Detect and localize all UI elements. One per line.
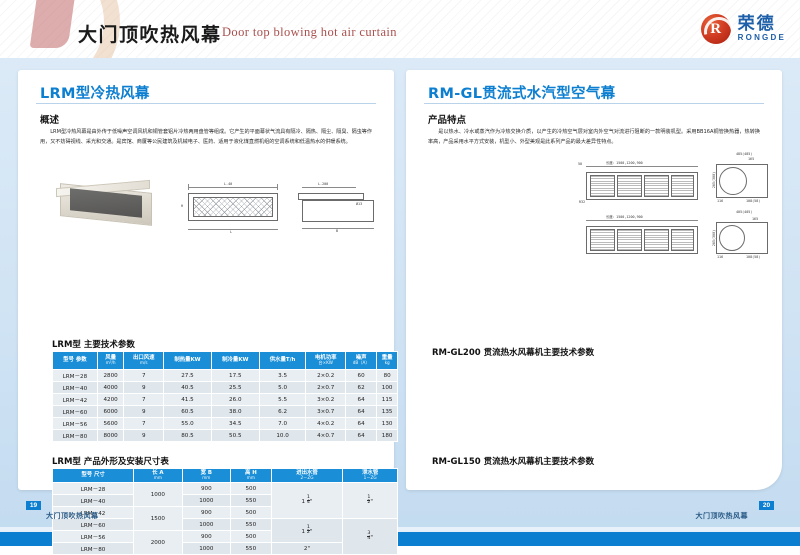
table-row: LRM－6010005501 12"34" xyxy=(53,519,398,531)
table-cell-length-group: 1000 xyxy=(134,483,182,507)
right-product-panel: RM-GL贯流式水汽型空气幕 产品特点 是以热水、冷水或蒸汽作为冷热交换介质，以… xyxy=(406,70,782,490)
column-header: 长 Amm xyxy=(134,469,182,483)
table-cell: 100 xyxy=(377,382,398,394)
table-cell: LRM－80 xyxy=(53,430,98,442)
louver-section-1 xyxy=(590,175,615,197)
gl-side-view-upper: 165 116 108(58) 265(300) xyxy=(712,156,778,208)
table-cell: 6000 xyxy=(97,406,124,418)
table-cell: 50.5 xyxy=(211,430,259,442)
table-cell-water-pipe: 2" xyxy=(271,543,343,555)
column-header-unit: kg xyxy=(377,361,397,366)
left-title-divider xyxy=(36,103,376,104)
table-cell-length-group: 1500 xyxy=(134,507,182,531)
louver-section-2 xyxy=(617,229,642,251)
column-header-label: 型号 参数 xyxy=(63,357,86,363)
table-cell: 500 xyxy=(231,531,272,543)
table-cell: 500 xyxy=(231,507,272,519)
right-page-number: 20 xyxy=(759,501,774,510)
column-header: 制冷量KW xyxy=(211,352,259,370)
column-header-label: 制热量KW xyxy=(174,357,200,363)
table-cell: 1000 xyxy=(182,495,230,507)
dim-label-side: 50 xyxy=(578,162,582,166)
table-cell: 3×0.2 xyxy=(306,394,346,406)
dim-label-h1: 265(300) xyxy=(712,172,716,188)
column-header: 供水量T/h xyxy=(259,352,306,370)
fan-circle xyxy=(719,167,747,195)
table-cell: 7 xyxy=(124,370,164,382)
lrm-dim-table-title: LRM型 产品外形及安装尺寸表 xyxy=(52,455,169,467)
left-page-number: 19 xyxy=(26,501,41,510)
logo-circle-r-icon: R xyxy=(701,14,731,44)
louver-section-4 xyxy=(671,175,694,197)
table-row: LRM－282800727.517.53.52×0.26080 xyxy=(53,370,398,382)
lrm-spec-table-title: LRM型 主要技术参数 xyxy=(52,338,135,350)
gl150-table-title: RM-GL150 贯流热水风幕机主要技术参数 xyxy=(432,455,594,467)
table-cell: 7 xyxy=(124,394,164,406)
table-cell: 115 xyxy=(377,394,398,406)
table-cell: 6.2 xyxy=(259,406,306,418)
table-cell: 64 xyxy=(345,430,376,442)
dim-line-bottom xyxy=(188,229,278,230)
table-cell: 5600 xyxy=(97,418,124,430)
dim-label-small: R32 xyxy=(579,200,585,204)
table-cell: 4×0.7 xyxy=(306,430,346,442)
fan-circle xyxy=(719,225,745,251)
table-cell-length-group: 2000 xyxy=(134,531,182,555)
table-cell: 4200 xyxy=(97,394,124,406)
dim-label-pipe: 108(58) xyxy=(746,255,760,259)
table-cell: 80 xyxy=(377,370,398,382)
table-cell: 2800 xyxy=(97,370,124,382)
dim-line-length xyxy=(586,166,698,167)
column-header: 宽 Bmm xyxy=(182,469,230,483)
table-cell: 26.0 xyxy=(211,394,259,406)
dim-label-hole: Ø13 xyxy=(356,202,362,206)
column-header: 型号 尺寸 xyxy=(53,469,134,483)
dim-label-bottom: L xyxy=(230,230,232,234)
logo-text-cn: 荣德 xyxy=(738,16,786,34)
table-cell-water-pipe: 1 14" xyxy=(271,483,343,519)
table-cell: 135 xyxy=(377,406,398,418)
table-cell: 4000 xyxy=(97,382,124,394)
gl-side-view-lower: 405(405) 165 116 108(58) 265(300) xyxy=(712,210,778,262)
table-cell: LRM－40 xyxy=(53,382,98,394)
right-footer-label: 大门顶吹热风幕 xyxy=(696,511,749,521)
dim-label-length: 长度：1500,1200,900 xyxy=(606,160,643,165)
column-header-unit: m³/h xyxy=(98,361,124,366)
dim-label-side: L-200 xyxy=(318,182,328,186)
table-cell-drain-pipe: 12" xyxy=(343,483,398,519)
table-cell: 9 xyxy=(124,430,164,442)
table-row: LRM－404000940.525.55.02×0.762100 xyxy=(53,382,398,394)
dim-label-top: L-40 xyxy=(224,182,232,186)
header-title-cn: 大门顶吹热风幕 xyxy=(78,20,222,47)
table-cell: 130 xyxy=(377,418,398,430)
table-cell: 1000 xyxy=(182,543,230,555)
louver-section-3 xyxy=(644,229,669,251)
lrm-front-view-drawing: L-40 L H xyxy=(186,182,282,234)
logo-letter: R xyxy=(710,22,721,37)
logo-text-en: RONGDE xyxy=(738,33,786,42)
table-cell: 64 xyxy=(345,406,376,418)
dim-label-width-top: 485(485) xyxy=(736,152,752,156)
column-header-unit: 2－ZG xyxy=(272,476,343,481)
table-row: LRM－808000980.550.510.04×0.764180 xyxy=(53,430,398,442)
table-cell: 27.5 xyxy=(164,370,212,382)
louver-section-2 xyxy=(617,175,642,197)
table-cell: 900 xyxy=(182,507,230,519)
dim-line-length xyxy=(586,220,698,221)
column-header-label: 型号 尺寸 xyxy=(81,472,104,478)
column-header-unit: mm xyxy=(183,476,230,481)
table-cell: 34.5 xyxy=(211,418,259,430)
column-header-unit: mm xyxy=(231,476,271,481)
column-header: 型号 参数 xyxy=(53,352,98,370)
table-cell-water-pipe: 1 12" xyxy=(271,519,343,543)
table-cell: 4×0.2 xyxy=(306,418,346,430)
left-body-text: LRM型冷热风幕是由外传于低噪声空调风机和铜管套铝片冷热两用盘管等组成。它产生的… xyxy=(40,128,372,148)
table-cell: 38.0 xyxy=(211,406,259,418)
left-panel-title: LRM型冷热风幕 xyxy=(40,82,150,103)
table-cell: 5.0 xyxy=(259,382,306,394)
louver-section-3 xyxy=(644,175,669,197)
table-cell: 10.0 xyxy=(259,430,306,442)
column-header-label: 供水量T/h xyxy=(270,357,296,363)
table-cell: LRM－60 xyxy=(53,406,98,418)
table-cell: 64 xyxy=(345,418,376,430)
column-header-unit: mm xyxy=(134,476,181,481)
column-header: 出口风速m/s xyxy=(124,352,164,370)
table-cell: 550 xyxy=(231,543,272,555)
table-cell: LRM－28 xyxy=(53,483,134,495)
table-cell: LRM－80 xyxy=(53,543,134,555)
dim-label-base: 116 xyxy=(717,199,723,203)
lrm-side-view-drawing: L-200 Ø13 B xyxy=(296,182,380,234)
dim-tick-left xyxy=(188,184,189,190)
left-product-panel: LRM型冷热风幕 概述 LRM型冷热风幕是由外传于低噪声空调风机和铜管套铝片冷热… xyxy=(18,70,394,490)
gl200-table-title: RM-GL200 贯流热水风幕机主要技术参数 xyxy=(432,346,594,358)
table-cell: 3.5 xyxy=(259,370,306,382)
table-row: LRM－424200741.526.05.53×0.264115 xyxy=(53,394,398,406)
mesh-grille xyxy=(193,197,273,217)
table-cell: 55.0 xyxy=(164,418,212,430)
table-cell: 550 xyxy=(231,519,272,531)
table-cell: 550 xyxy=(231,495,272,507)
table-row: LRM－606000960.538.06.23×0.764135 xyxy=(53,406,398,418)
table-cell: 60 xyxy=(345,370,376,382)
column-header: 制热量KW xyxy=(164,352,212,370)
table-cell: 25.5 xyxy=(211,382,259,394)
table-header-row: 型号 尺寸长 Amm宽 Bmm高 Hmm进出水管2－ZG泄水管1－ZG xyxy=(53,469,398,483)
table-cell: 62 xyxy=(345,382,376,394)
louver-section-4 xyxy=(671,229,694,251)
table-cell: 500 xyxy=(231,483,272,495)
column-header: 高 Hmm xyxy=(231,469,272,483)
right-body-text: 是以热水、冷水或蒸汽作为冷热交换介质，以产生的冷热空气层对室内外空气对流进行阻断… xyxy=(428,128,760,148)
dim-label-length: 长度：1500,1200,900 xyxy=(606,214,643,219)
table-cell: LRM－40 xyxy=(53,495,134,507)
header-title-en: Door top blowing hot air curtain xyxy=(222,25,397,40)
table-cell: 180 xyxy=(377,430,398,442)
table-cell: 41.5 xyxy=(164,394,212,406)
dim-line-top xyxy=(188,187,278,188)
dim-label-base: 116 xyxy=(717,255,723,259)
left-footer-label: 大门顶吹热风幕 xyxy=(46,511,99,521)
table-cell: LRM－56 xyxy=(53,418,98,430)
table-cell: 64 xyxy=(345,394,376,406)
page-header: 大门顶吹热风幕 Door top blowing hot air curtain… xyxy=(0,0,800,58)
dim-label-width-bottom: 405(405) xyxy=(736,210,752,214)
table-cell: 9 xyxy=(124,406,164,418)
right-section-heading: 产品特点 xyxy=(428,112,466,126)
dim-label-h2: 265(300) xyxy=(712,230,716,246)
column-header-label: 制冷量KW xyxy=(222,357,248,363)
table-cell: 8000 xyxy=(97,430,124,442)
table-row: LRM－565600755.034.57.04×0.264130 xyxy=(53,418,398,430)
column-header-unit: 台×KW xyxy=(306,361,345,366)
side-top-flange xyxy=(298,193,364,200)
company-logo: R 荣德 RONGDE xyxy=(701,14,786,44)
column-header: 电机功率台×KW xyxy=(306,352,346,370)
gl-front-view-upper: 长度：1500,1200,900 50 R32 xyxy=(578,160,706,208)
table-cell: LRM－28 xyxy=(53,370,98,382)
table-cell: 40.5 xyxy=(164,382,212,394)
right-title-divider xyxy=(424,103,764,104)
table-cell: 1000 xyxy=(182,519,230,531)
lrm-spec-table: 型号 参数风量m³/h出口风速m/s制热量KW制冷量KW供水量T/h电机功率台×… xyxy=(52,351,398,442)
table-cell: 80.5 xyxy=(164,430,212,442)
table-cell: 17.5 xyxy=(211,370,259,382)
dim-label-depth: 165 xyxy=(748,157,754,161)
right-panel-title: RM-GL贯流式水汽型空气幕 xyxy=(428,82,615,103)
dim-label-depth: B xyxy=(336,229,338,233)
dim-label-height: H xyxy=(181,204,183,208)
table-cell: LRM－42 xyxy=(53,394,98,406)
column-header: 进出水管2－ZG xyxy=(271,469,343,483)
dim-label-pipe: 108(58) xyxy=(746,199,760,203)
left-section-heading: 概述 xyxy=(40,112,59,126)
table-cell: 2×0.2 xyxy=(306,370,346,382)
column-header-unit: 1－ZG xyxy=(343,476,397,481)
table-header-row: 型号 参数风量m³/h出口风速m/s制热量KW制冷量KW供水量T/h电机功率台×… xyxy=(53,352,398,370)
dim-line-top2 xyxy=(302,187,356,188)
table-cell: 2×0.7 xyxy=(306,382,346,394)
column-header-unit: dB（A） xyxy=(346,361,376,366)
dim-tick-right xyxy=(277,184,278,190)
table-cell: 5.5 xyxy=(259,394,306,406)
column-header: 泄水管1－ZG xyxy=(343,469,398,483)
column-header: 噪声dB（A） xyxy=(345,352,376,370)
table-cell: 900 xyxy=(182,483,230,495)
table-cell: 3×0.7 xyxy=(306,406,346,418)
side-outline xyxy=(302,200,374,222)
lrm-dim-table: 型号 尺寸长 Amm宽 Bmm高 Hmm进出水管2－ZG泄水管1－ZG LRM－… xyxy=(52,468,398,555)
column-header-unit: m/s xyxy=(124,361,163,366)
table-row: LRM－2810009005001 14"12" xyxy=(53,483,398,495)
louver-section-1 xyxy=(590,229,615,251)
table-cell: 900 xyxy=(182,531,230,543)
table-cell: 60.5 xyxy=(164,406,212,418)
column-header: 风量m³/h xyxy=(97,352,124,370)
dim-label-depth: 165 xyxy=(752,217,758,221)
table-cell: 7.0 xyxy=(259,418,306,430)
table-cell: 7 xyxy=(124,418,164,430)
lrm-product-photo xyxy=(52,182,156,228)
logo-text: 荣德 RONGDE xyxy=(738,16,786,43)
column-header: 重量kg xyxy=(377,352,398,370)
gl-front-view-lower: 长度：1500,1200,900 xyxy=(578,214,706,262)
table-cell-drain-pipe: 34" xyxy=(343,519,398,555)
table-cell: LRM－56 xyxy=(53,531,134,543)
table-cell: 9 xyxy=(124,382,164,394)
